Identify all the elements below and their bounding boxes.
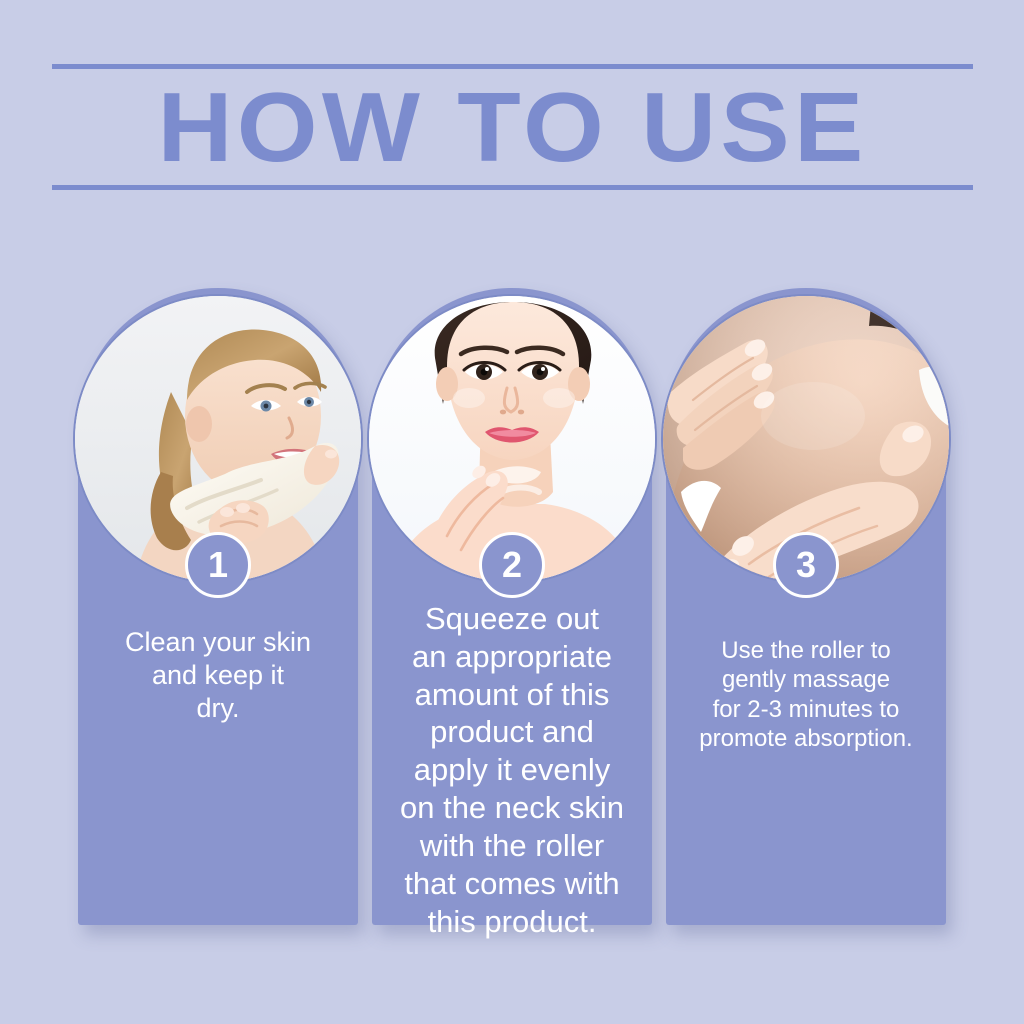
page-title: HOW TO USE — [24, 69, 1000, 185]
step-number-badge-2: 2 — [479, 532, 545, 598]
header: HOW TO USE — [52, 64, 973, 190]
step-number-badge-1: 1 — [185, 532, 251, 598]
step-caption-3: Use the roller to gently massage for 2-3… — [672, 636, 940, 753]
step-card-2: 2 Squeeze out an appropriate amount of t… — [372, 288, 652, 925]
step-card-1: 1 Clean your skin and keep it dry. — [78, 288, 358, 925]
steps-container: 1 Clean your skin and keep it dry. — [78, 288, 946, 928]
step-number-badge-3: 3 — [773, 532, 839, 598]
step-caption-1: Clean your skin and keep it dry. — [84, 626, 352, 725]
header-bottom-rule — [52, 185, 973, 190]
step-card-3: 3 Use the roller to gently massage for 2… — [666, 288, 946, 925]
step-caption-2: Squeeze out an appropriate amount of thi… — [378, 600, 646, 940]
